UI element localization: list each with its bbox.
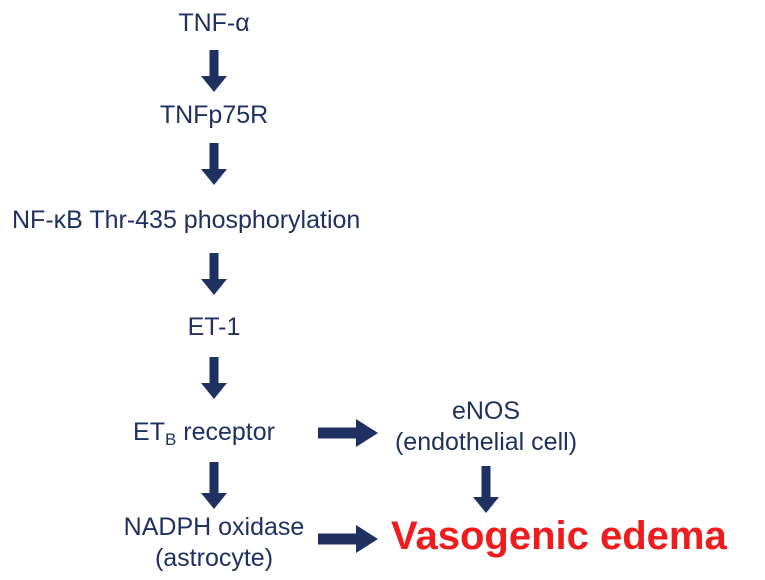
arrow-down-icon-enos-to-vasogenic-edema (464, 466, 508, 516)
arrow-down-icon-etb-receptor-to-nadph (192, 462, 236, 512)
node-nadph-oxidase-label: NADPH oxidase (124, 512, 305, 543)
node-tnf-alpha-label: TNF-α (178, 9, 249, 37)
arrow-right-icon-etb-receptor-to-enos (318, 418, 380, 448)
node-tnfp75r: TNFp75R (160, 100, 268, 130)
arrow-down-icon-nfkb-to-et1 (192, 253, 236, 298)
node-et1-label: ET-1 (188, 313, 241, 341)
node-etb-receptor-prefix: ET (133, 418, 165, 446)
arrow-down-icon-tnfalpha-to-tnfp75r (192, 50, 236, 95)
node-etb-receptor: ETB receptor (133, 417, 275, 450)
node-nfkb-thr435-phosphorylation-label: NF-κB Thr-435 phosphorylation (12, 206, 360, 234)
node-tnfp75r-label: TNFp75R (160, 101, 268, 129)
node-vasogenic-edema-label: Vasogenic edema (391, 514, 727, 558)
node-nadph-oxidase-sublabel: (astrocyte) (124, 543, 305, 574)
node-nadph-oxidase: NADPH oxidase (astrocyte) (124, 512, 305, 574)
arrow-right-icon-nadph-to-vasogenic-edema (318, 524, 380, 554)
node-tnf-alpha: TNF-α (178, 8, 249, 38)
node-enos: eNOS (endothelial cell) (395, 396, 577, 458)
node-nfkb-thr435-phosphorylation: NF-κB Thr-435 phosphorylation (12, 205, 360, 235)
arrow-down-icon-tnfp75r-to-nfkb (192, 143, 236, 188)
arrow-down-icon-et1-to-etb-receptor (192, 357, 236, 402)
node-enos-label: eNOS (395, 396, 577, 427)
node-etb-receptor-subscript: B (165, 430, 176, 449)
node-et1: ET-1 (188, 312, 241, 342)
node-vasogenic-edema: Vasogenic edema (391, 514, 727, 558)
node-etb-receptor-suffix: receptor (176, 418, 275, 446)
flowchart-canvas: TNF-α TNFp75R NF-κB Thr-435 phosphorylat… (0, 0, 765, 580)
node-enos-sublabel: (endothelial cell) (395, 427, 577, 458)
